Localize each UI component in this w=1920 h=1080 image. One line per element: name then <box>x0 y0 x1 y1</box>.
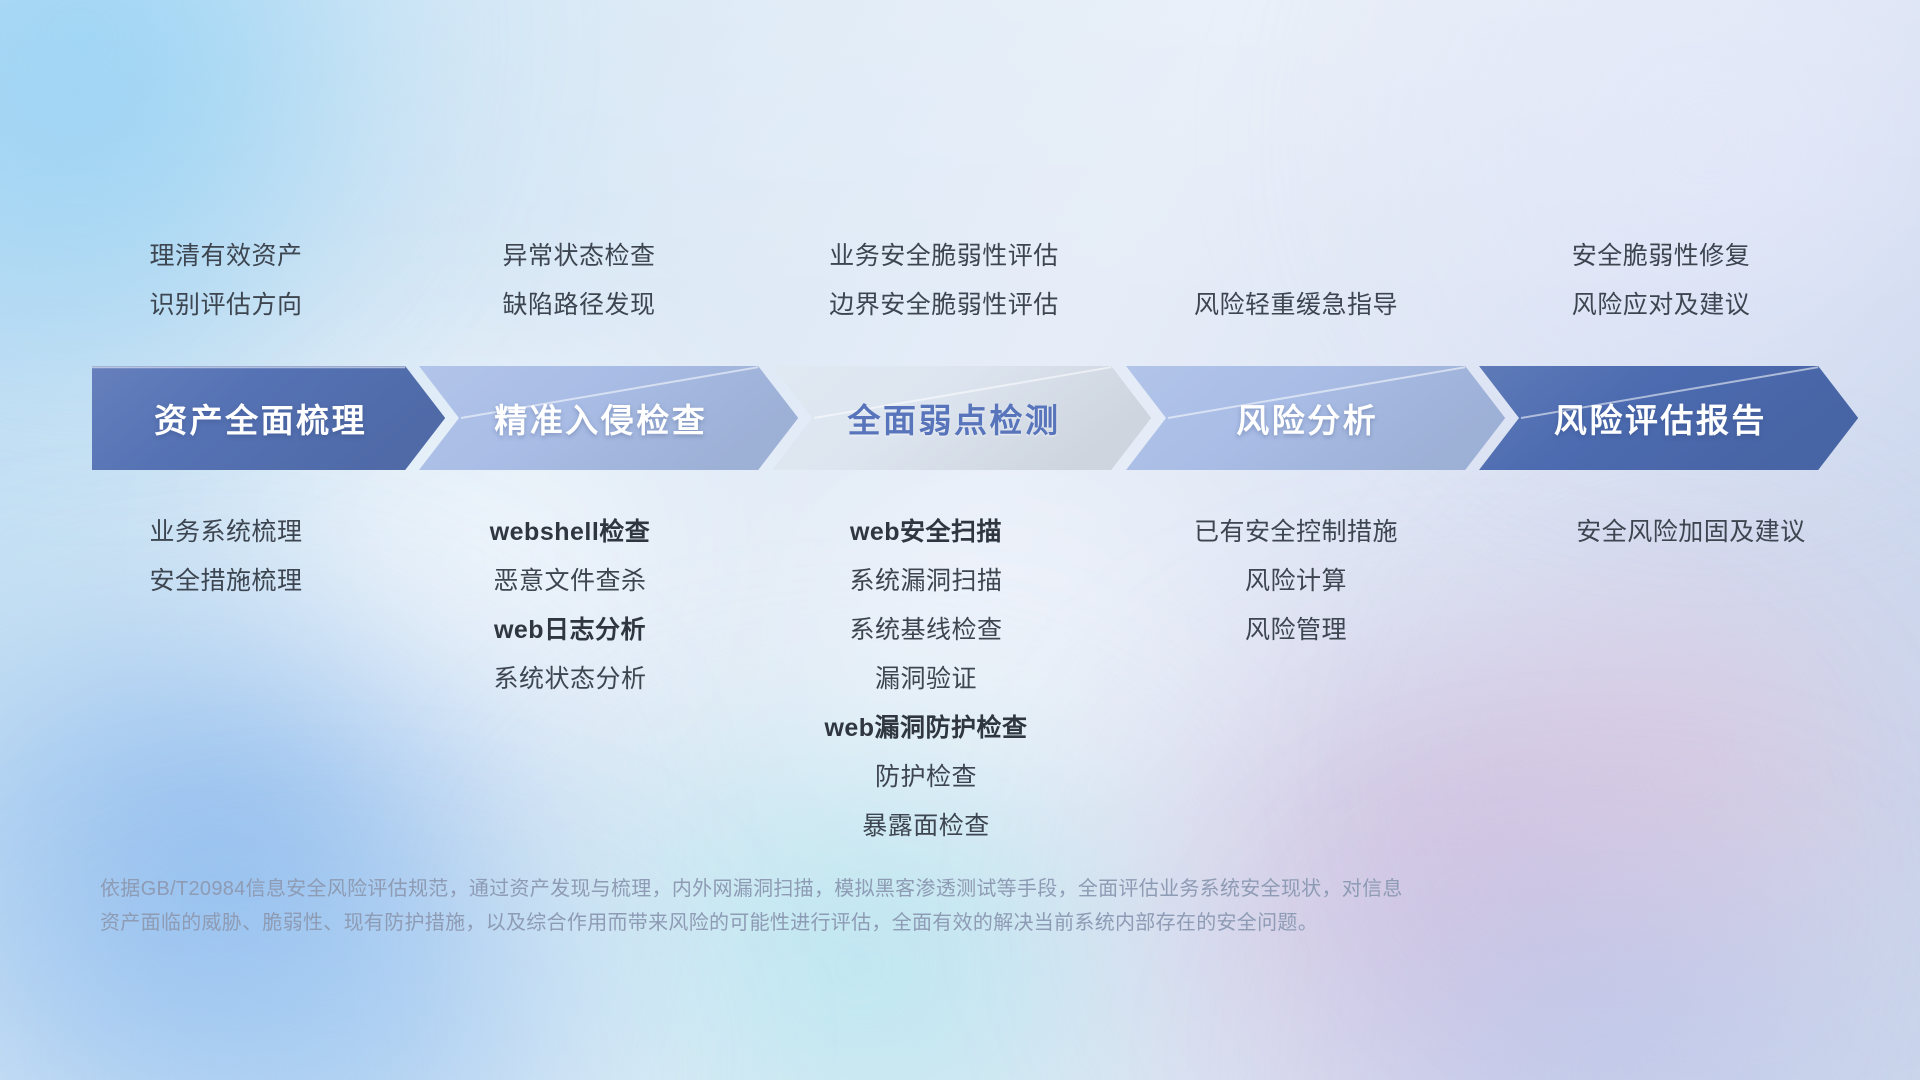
list-item: 风险计算 <box>996 557 1596 606</box>
list-item: 暴露面检查 <box>626 802 1226 851</box>
stage-label: 风险评估报告 <box>1554 394 1767 442</box>
process-stage-intrusion-check[interactable]: 精准入侵检查 <box>419 366 798 470</box>
stage-label: 资产全面梳理 <box>154 394 367 442</box>
process-stage-asset-inventory[interactable]: 资产全面梳理 <box>92 366 445 470</box>
list-item: web漏洞防护检查 <box>626 704 1226 753</box>
process-stage-assessment-report[interactable]: 风险评估报告 <box>1479 366 1858 470</box>
list-item: 漏洞验证 <box>626 655 1226 704</box>
process-stage-risk-analysis[interactable]: 风险分析 <box>1126 366 1505 470</box>
top-items-assessment-report: 安全脆弱性修复风险应对及建议 <box>1361 232 1920 330</box>
process-chevron-band: 资产全面梳理精准入侵检查全面弱点检测风险分析风险评估报告 <box>0 366 1920 470</box>
stage-label: 精准入侵检查 <box>494 394 707 442</box>
process-stage-weakness-detection[interactable]: 全面弱点检测 <box>772 366 1151 470</box>
bottom-items-assessment-report: 安全风险加固及建议 <box>1391 508 1920 557</box>
list-item: 业务安全脆弱性评估 <box>644 232 1244 281</box>
diagram-content: 理清有效资产识别评估方向异常状态检查缺陷路径发现业务安全脆弱性评估边界安全脆弱性… <box>0 0 1920 1080</box>
list-item: 风险管理 <box>996 606 1596 655</box>
list-item: 安全脆弱性修复 <box>1361 232 1920 281</box>
list-item: 风险应对及建议 <box>1361 281 1920 330</box>
footer-line-1: 依据GB/T20984信息安全风险评估规范，通过资产发现与梳理，内外网漏洞扫描，… <box>100 872 1840 906</box>
slide-canvas: 理清有效资产识别评估方向异常状态检查缺陷路径发现业务安全脆弱性评估边界安全脆弱性… <box>0 0 1920 1080</box>
stage-label: 风险分析 <box>1236 394 1378 442</box>
list-item: 防护检查 <box>626 753 1226 802</box>
stage-label: 全面弱点检测 <box>847 394 1060 442</box>
footer-note: 依据GB/T20984信息安全风险评估规范，通过资产发现与梳理，内外网漏洞扫描，… <box>100 872 1840 940</box>
list-item: 安全风险加固及建议 <box>1391 508 1920 557</box>
footer-line-2: 资产面临的威胁、脆弱性、现有防护措施，以及综合作用而带来风险的可能性进行评估，全… <box>100 906 1840 940</box>
